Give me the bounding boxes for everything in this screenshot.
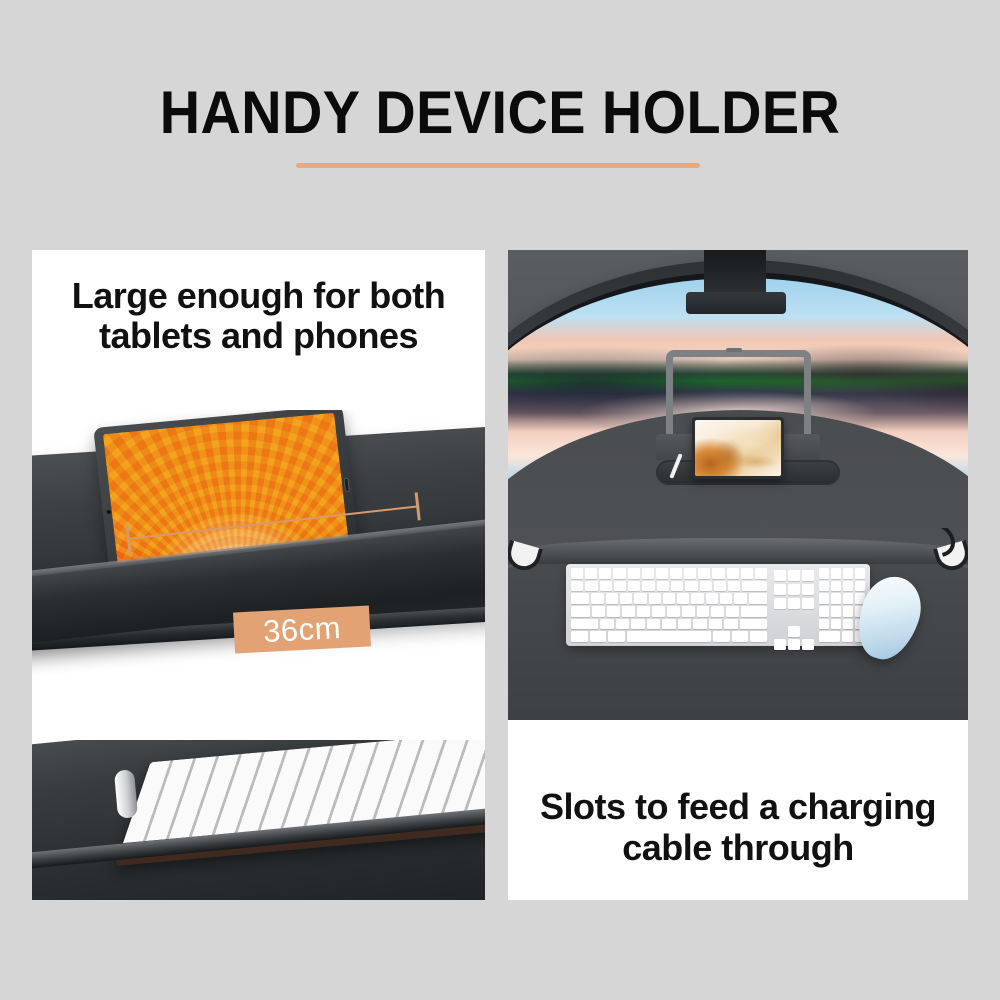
keyboard-arrow-cluster [772,568,814,642]
left-panel-caption: Large enough for both tablets and phones [32,276,485,357]
measurement-badge: 36cm [233,605,371,653]
monitor-indicator-icon [726,348,742,352]
product-banner: HANDY DEVICE HOLDER Large enough for bot… [0,0,1000,1000]
tablet-camera-icon [106,509,110,513]
docked-tablet-device [692,417,784,479]
keyboard-photo [32,740,485,900]
desk-surface [508,528,968,720]
feature-panel-right: Slots to feed a charging cable through [508,250,968,900]
monitor-mount-plate [686,292,786,314]
keyboard-row [571,619,767,630]
page-title: HANDY DEVICE HOLDER [35,78,965,147]
keyboard-numpad-cluster [819,568,865,642]
measurement-badge-label: 36cm [262,609,342,649]
feature-panel-left: Large enough for both tablets and phones… [32,250,485,900]
monitor-mount-bracket [704,250,766,298]
keyboard-row [819,593,865,604]
keyboard-row [571,568,767,579]
title-divider-rule [296,163,700,168]
tablet-button-icon [343,477,350,491]
keyboard-row [819,606,865,617]
keyboard-device [566,564,870,646]
desk-topdown-photo [508,250,968,720]
docked-tablet-wallpaper [695,420,781,476]
keyboard-row [571,606,767,617]
desk-front-rim [508,538,968,564]
keyboard-row [819,631,865,642]
keyboard-row [571,631,767,642]
right-panel-caption: Slots to feed a charging cable through [508,787,968,868]
keyboard-row [819,581,865,592]
keyboard-barrel-edge [114,769,138,819]
keyboard-row [571,593,767,604]
keyboard-row [571,581,767,592]
keyboard-row [819,568,865,579]
keyboard-main-cluster [571,568,767,642]
